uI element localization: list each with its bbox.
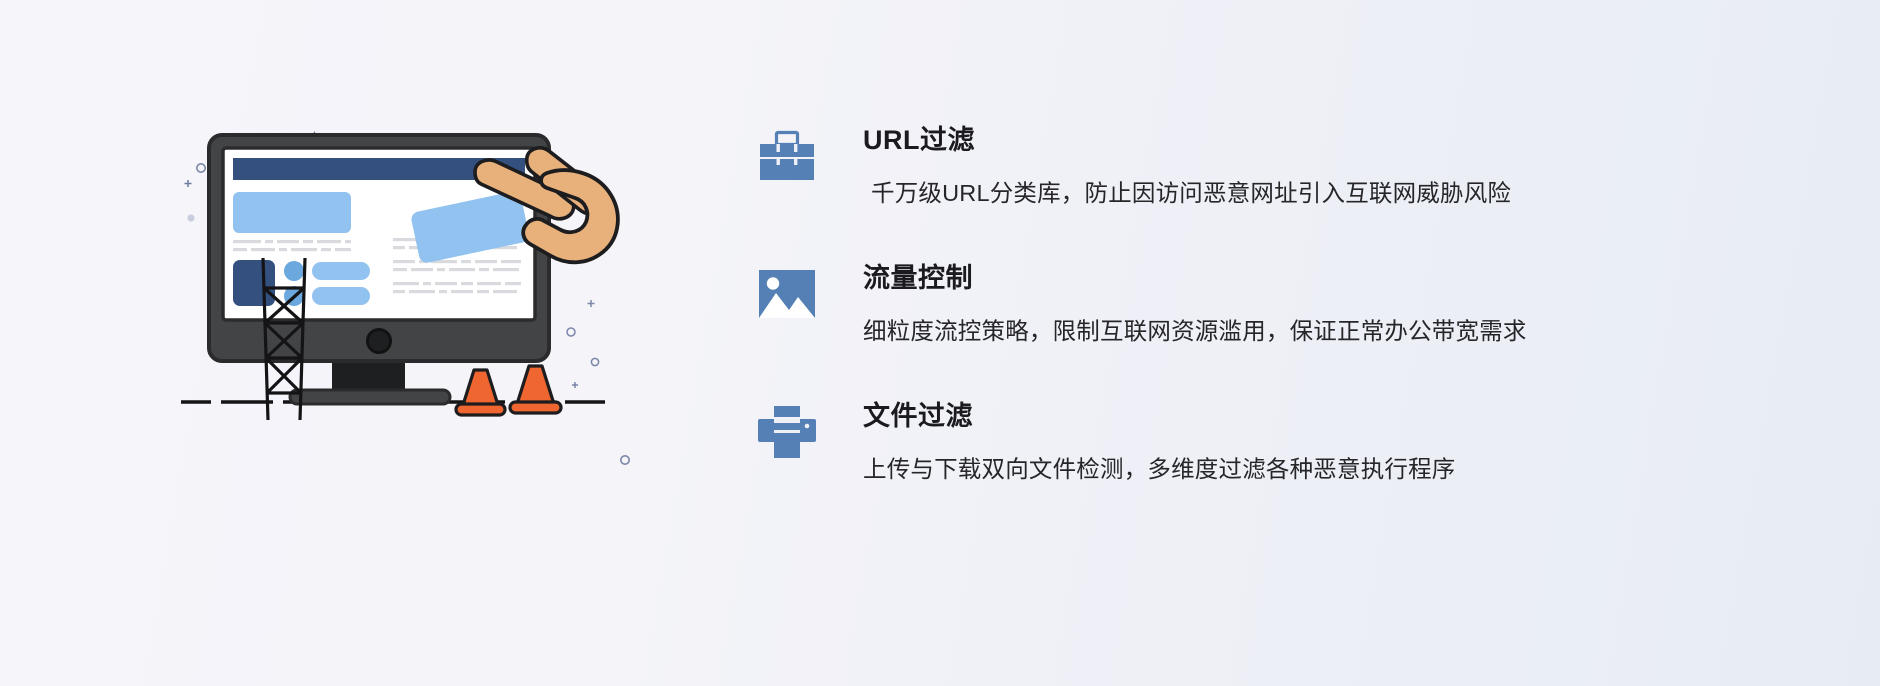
feature-description: 千万级URL分类库，防止因访问恶意网址引入互联网威胁风险 [863,176,1835,210]
feature-item-file-filter: 文件过滤 上传与下载双向文件检测，多维度过滤各种恶意执行程序 [755,396,1835,486]
traffic-cone-left [456,370,505,415]
page-root: URL过滤 千万级URL分类库，防止因访问恶意网址引入互联网威胁风险 流量控制 … [0,0,1880,686]
feature-body: URL过滤 千万级URL分类库，防止因访问恶意网址引入互联网威胁风险 [755,120,1835,210]
mock-hero-block [233,192,351,233]
feature-description: 上传与下载双向文件检测，多维度过滤各种恶意执行程序 [863,452,1835,486]
feature-title: 流量控制 [863,258,1835,298]
toolbox-icon [755,126,819,186]
feature-title: 文件过滤 [863,396,1835,436]
feature-body: 流量控制 细粒度流控策略，限制互联网资源滥用，保证正常办公带宽需求 [755,258,1835,348]
traffic-cone-right [510,366,561,413]
feature-item-traffic-control: 流量控制 细粒度流控策略，限制互联网资源滥用，保证正常办公带宽需求 [755,258,1835,348]
printer-icon [755,402,819,462]
feature-description: 细粒度流控策略，限制互联网资源滥用，保证正常办公带宽需求 [863,314,1835,348]
feature-body: 文件过滤 上传与下载双向文件检测，多维度过滤各种恶意执行程序 [755,396,1835,486]
image-picture-icon [755,264,819,324]
feature-item-url-filter: URL过滤 千万级URL分类库，防止因访问恶意网址引入互联网威胁风险 [755,120,1835,210]
decorative-sparkles-bottom [567,300,599,388]
feature-title: URL过滤 [863,120,1835,160]
hero-illustration [175,110,645,470]
feature-list: URL过滤 千万级URL分类库，防止因访问恶意网址引入互联网威胁风险 流量控制 … [755,120,1835,486]
mock-avatar-block [233,260,275,306]
